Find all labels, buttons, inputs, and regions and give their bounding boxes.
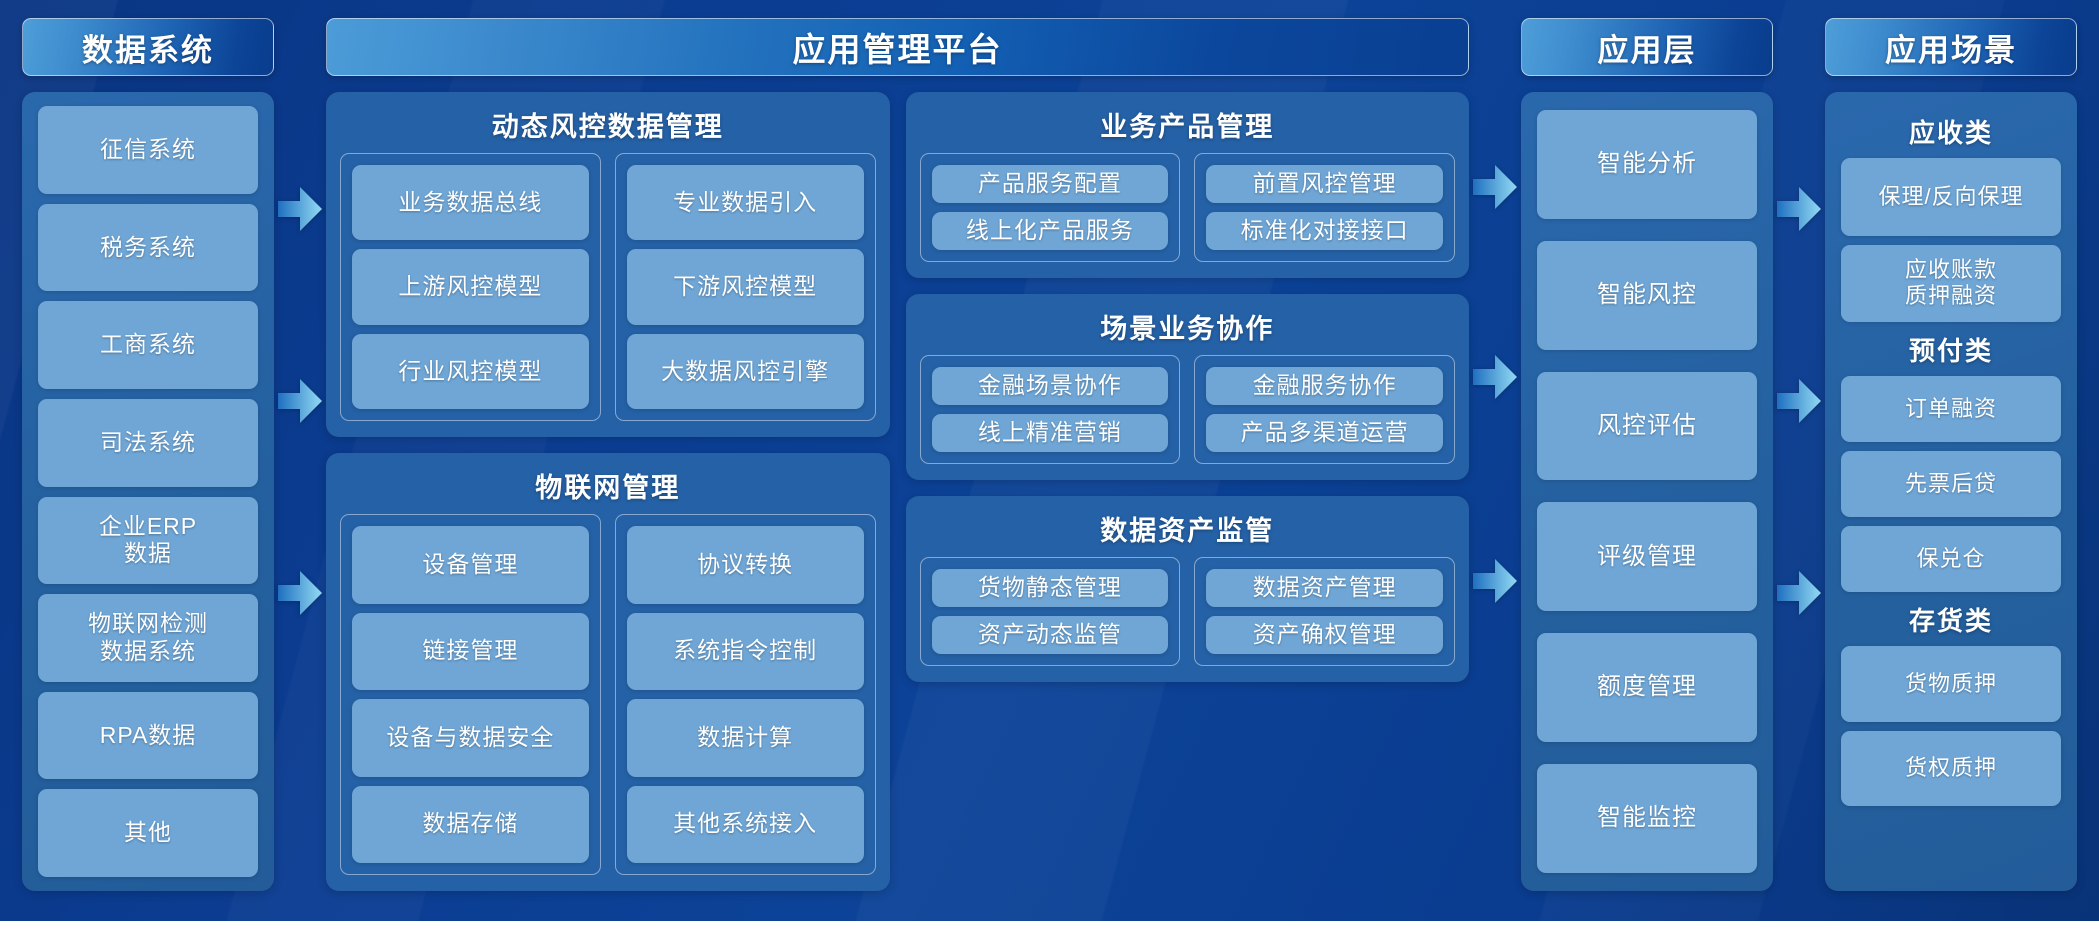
column-app-layer: 应用层 智能分析 智能风控 风控评估 评级管理 额度管理 智能监控: [1521, 18, 1773, 891]
arrow-right-icon: [1473, 558, 1517, 604]
scene-group-prepaid: 预付类 订单融资 先票后贷 保兑仓: [1841, 322, 2061, 592]
app-scene-panel: 应收类 保理/反向保理 应收账款质押融资 预付类 订单融资 先票后贷 保兑仓: [1825, 92, 2077, 891]
list-item[interactable]: 大数据风控引擎: [627, 334, 864, 409]
list-item[interactable]: RPA数据: [38, 692, 258, 780]
list-item[interactable]: 上游风控模型: [352, 249, 589, 324]
group-iot-management: 物联网管理 设备管理 链接管理 设备与数据安全 数据存储 协议转换 系统指令控制: [326, 453, 890, 891]
list-item[interactable]: 前置风控管理: [1206, 165, 1443, 203]
arrow-right-icon: [278, 378, 322, 424]
list-item[interactable]: 额度管理: [1537, 633, 1757, 742]
subgroup-right: 前置风控管理 标准化对接接口: [1194, 153, 1455, 262]
platform-groups: 动态风控数据管理 业务数据总线 上游风控模型 行业风控模型 专业数据引入 下游风…: [326, 92, 1469, 891]
spacer: [1521, 76, 1773, 92]
list-item[interactable]: 数据资产管理: [1206, 569, 1443, 607]
arrow-right-icon: [1777, 570, 1821, 616]
list-item[interactable]: 行业风控模型: [352, 334, 589, 409]
scene-group-items: 订单融资 先票后贷 保兑仓: [1841, 376, 2061, 592]
scene-group-receivable: 应收类 保理/反向保理 应收账款质押融资: [1841, 104, 2061, 322]
list-item[interactable]: 订单融资: [1841, 376, 2061, 442]
column-platform: 应用管理平台 动态风控数据管理 业务数据总线 上游风控模型 行业风控模型: [326, 18, 1469, 891]
list-item[interactable]: 智能分析: [1537, 110, 1757, 219]
list-item[interactable]: 金融服务协作: [1206, 367, 1443, 405]
list-item[interactable]: 智能监控: [1537, 764, 1757, 873]
list-item[interactable]: 其他: [38, 789, 258, 877]
arrow-right-icon: [1777, 378, 1821, 424]
list-item[interactable]: 线上化产品服务: [932, 212, 1169, 250]
list-item[interactable]: 应收账款质押融资: [1841, 245, 2061, 323]
group-title: 动态风控数据管理: [340, 101, 876, 153]
subgroup-right: 协议转换 系统指令控制 数据计算 其他系统接入: [615, 514, 876, 875]
arrow-right-icon: [278, 570, 322, 616]
list-item[interactable]: 税务系统: [38, 204, 258, 292]
group-data-asset-supervision: 数据资产监管 货物静态管理 资产动态监管 数据资产管理 资产确权管理: [906, 496, 1470, 682]
architecture-board: 数据系统 征信系统 税务系统 工商系统 司法系统 企业ERP数据 物联网检测数据…: [0, 0, 2099, 921]
list-item[interactable]: 系统指令控制: [627, 613, 864, 691]
subgroup-grid: 设备管理 链接管理 设备与数据安全 数据存储 协议转换 系统指令控制 数据计算 …: [340, 514, 876, 875]
column-app-scene: 应用场景 应收类 保理/反向保理 应收账款质押融资 预付类 订单融资: [1825, 18, 2077, 891]
arrow-group-3: [1773, 18, 1825, 891]
data-system-panel: 征信系统 税务系统 工商系统 司法系统 企业ERP数据 物联网检测数据系统 RP…: [22, 92, 274, 891]
subgroup-right: 金融服务协作 产品多渠道运营: [1194, 355, 1455, 464]
subgroup-left: 货物静态管理 资产动态监管: [920, 557, 1181, 666]
list-item[interactable]: 产品多渠道运营: [1206, 414, 1443, 452]
subgroup-right: 数据资产管理 资产确权管理: [1194, 557, 1455, 666]
scene-group-title: 预付类: [1841, 322, 2061, 376]
arrow-right-icon: [1473, 354, 1517, 400]
list-item[interactable]: 数据计算: [627, 699, 864, 777]
list-item[interactable]: 保兑仓: [1841, 526, 2061, 592]
spacer: [22, 76, 274, 92]
scene-group-items: 保理/反向保理 应收账款质押融资: [1841, 158, 2061, 322]
column-title-data-system[interactable]: 数据系统: [22, 18, 274, 76]
arrow-right-icon: [1473, 164, 1517, 210]
arrow-right-icon: [1777, 186, 1821, 232]
list-item[interactable]: 资产确权管理: [1206, 616, 1443, 654]
list-item[interactable]: 线上精准营销: [932, 414, 1169, 452]
diagram-canvas: 数据系统 征信系统 税务系统 工商系统 司法系统 企业ERP数据 物联网检测数据…: [0, 0, 2099, 950]
subgroup-grid: 业务数据总线 上游风控模型 行业风控模型 专业数据引入 下游风控模型 大数据风控…: [340, 153, 876, 421]
spacer: [326, 76, 1469, 92]
subgroup-left: 产品服务配置 线上化产品服务: [920, 153, 1181, 262]
platform-right-groups: 业务产品管理 产品服务配置 线上化产品服务 前置风控管理 标准化对接接口: [906, 92, 1470, 891]
list-item[interactable]: 产品服务配置: [932, 165, 1169, 203]
column-title-app-layer[interactable]: 应用层: [1521, 18, 1773, 76]
app-layer-stack: 智能分析 智能风控 风控评估 评级管理 额度管理 智能监控: [1521, 92, 1773, 891]
list-item[interactable]: 货物静态管理: [932, 569, 1169, 607]
list-item[interactable]: 风控评估: [1537, 372, 1757, 481]
group-title: 物联网管理: [340, 462, 876, 514]
list-item[interactable]: 金融场景协作: [932, 367, 1169, 405]
list-item[interactable]: 司法系统: [38, 399, 258, 487]
list-item[interactable]: 设备管理: [352, 526, 589, 604]
list-item[interactable]: 智能风控: [1537, 241, 1757, 350]
scene-group-inventory: 存货类 货物质押 货权质押: [1841, 592, 2061, 806]
list-item[interactable]: 物联网检测数据系统: [38, 594, 258, 682]
data-system-stack: 征信系统 税务系统 工商系统 司法系统 企业ERP数据 物联网检测数据系统 RP…: [22, 92, 274, 891]
list-item[interactable]: 协议转换: [627, 526, 864, 604]
scene-group-items: 货物质押 货权质押: [1841, 646, 2061, 806]
list-item[interactable]: 评级管理: [1537, 502, 1757, 611]
list-item[interactable]: 企业ERP数据: [38, 497, 258, 585]
column-title-app-scene[interactable]: 应用场景: [1825, 18, 2077, 76]
group-business-product-management: 业务产品管理 产品服务配置 线上化产品服务 前置风控管理 标准化对接接口: [906, 92, 1470, 278]
spacer: [1825, 76, 2077, 92]
subgroup-grid: 产品服务配置 线上化产品服务 前置风控管理 标准化对接接口: [920, 153, 1456, 262]
list-item[interactable]: 资产动态监管: [932, 616, 1169, 654]
list-item[interactable]: 货物质押: [1841, 646, 2061, 722]
group-title: 场景业务协作: [920, 303, 1456, 355]
group-dynamic-risk-data: 动态风控数据管理 业务数据总线 上游风控模型 行业风控模型 专业数据引入 下游风…: [326, 92, 890, 437]
group-title: 业务产品管理: [920, 101, 1456, 153]
list-item[interactable]: 设备与数据安全: [352, 699, 589, 777]
arrow-group-1: [274, 18, 326, 891]
list-item[interactable]: 工商系统: [38, 301, 258, 389]
app-scene-stack: 应收类 保理/反向保理 应收账款质押融资 预付类 订单融资 先票后贷 保兑仓: [1825, 92, 2077, 891]
subgroup-right: 专业数据引入 下游风控模型 大数据风控引擎: [615, 153, 876, 421]
scene-group-title: 应收类: [1841, 104, 2061, 158]
list-item[interactable]: 征信系统: [38, 106, 258, 194]
subgroup-left: 设备管理 链接管理 设备与数据安全 数据存储: [340, 514, 601, 875]
column-title-platform[interactable]: 应用管理平台: [326, 18, 1469, 76]
list-item[interactable]: 下游风控模型: [627, 249, 864, 324]
column-data-system: 数据系统 征信系统 税务系统 工商系统 司法系统 企业ERP数据 物联网检测数据…: [22, 18, 274, 891]
list-item[interactable]: 保理/反向保理: [1841, 158, 2061, 236]
subgroup-grid: 货物静态管理 资产动态监管 数据资产管理 资产确权管理: [920, 557, 1456, 666]
group-scenario-business-collaboration: 场景业务协作 金融场景协作 线上精准营销 金融服务协作 产品多渠道运营: [906, 294, 1470, 480]
list-item[interactable]: 先票后贷: [1841, 451, 2061, 517]
list-item[interactable]: 数据存储: [352, 786, 589, 864]
subgroup-left: 金融场景协作 线上精准营销: [920, 355, 1181, 464]
list-item[interactable]: 业务数据总线: [352, 165, 589, 240]
list-item[interactable]: 链接管理: [352, 613, 589, 691]
platform-left-groups: 动态风控数据管理 业务数据总线 上游风控模型 行业风控模型 专业数据引入 下游风…: [326, 92, 890, 891]
subgroup-left: 业务数据总线 上游风控模型 行业风控模型: [340, 153, 601, 421]
arrow-group-2: [1469, 18, 1521, 891]
list-item[interactable]: 标准化对接接口: [1206, 212, 1443, 250]
list-item[interactable]: 货权质押: [1841, 731, 2061, 807]
list-item[interactable]: 其他系统接入: [627, 786, 864, 864]
group-title: 数据资产监管: [920, 505, 1456, 557]
arrow-right-icon: [278, 186, 322, 232]
subgroup-grid: 金融场景协作 线上精准营销 金融服务协作 产品多渠道运营: [920, 355, 1456, 464]
list-item[interactable]: 专业数据引入: [627, 165, 864, 240]
scene-group-title: 存货类: [1841, 592, 2061, 646]
app-layer-panel: 智能分析 智能风控 风控评估 评级管理 额度管理 智能监控: [1521, 92, 1773, 891]
